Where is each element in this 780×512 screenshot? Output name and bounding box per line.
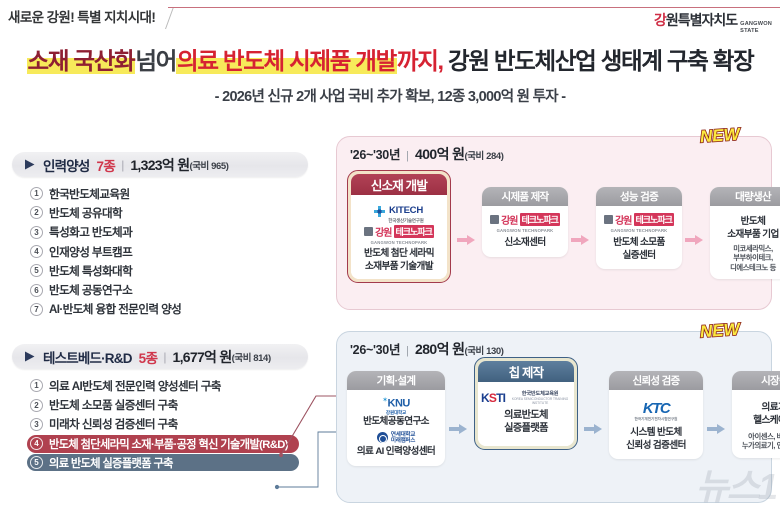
panel-amount: 280억 원	[415, 339, 464, 359]
logo-english-line1: GANGWON	[740, 21, 772, 28]
arrow-right-icon	[459, 424, 467, 434]
list-item-number: 2	[30, 206, 43, 219]
list-item: 3특성화고 반도체과	[30, 223, 330, 242]
arrow-stem	[571, 238, 581, 242]
flow-card-line: 시스템 반도체	[612, 427, 700, 440]
new-badge-materials: NEW	[699, 125, 740, 148]
gtp-mark-icon	[490, 215, 499, 224]
yonsei-mark-icon	[377, 432, 388, 443]
flow-card-title: 신뢰성 검증	[609, 371, 703, 390]
list-item-number: 1	[30, 187, 43, 200]
flow-card-body: 의료기기, 헬스케어 기업 아이센스, 바디텍메드, 누가의료기, 인성메디칼 …	[732, 390, 780, 458]
title-part-2: 넘어	[135, 48, 176, 74]
flow-card-title: 성능 검증	[596, 187, 682, 206]
list-item: 1의료 AI반도체 전문인력 양성센터 구축	[30, 376, 330, 395]
hero-card-chip-fabrication: 칩 제작 KSTI 한국반도체교육원 KOREA SEMICONDUCTOR T…	[474, 357, 578, 450]
hero-desc-line2: 소재부품 기술개발	[354, 261, 444, 274]
flow-card-market-supply: 시장공급 의료기기, 헬스케어 기업 아이센스, 바디텍메드, 누가의료기, 인…	[732, 371, 780, 458]
logo-korean-first-char: 강	[654, 12, 666, 28]
panel-divider: |	[406, 150, 409, 162]
infographic-page: 새로운 강원! 특별 지치시대! 강원특별자치도 GANGWON STATE 소…	[0, 0, 780, 512]
section-header-workforce: 인력양성 7종 | 1,323억 원 (국비 965)	[12, 152, 308, 177]
ksti-logo-accent: S	[489, 391, 496, 405]
logo-english-line2: STATE	[740, 28, 772, 35]
ksti-logo: KSTI 한국반도체교육원 KOREA SEMICONDUCTOR TRAINI…	[481, 391, 571, 405]
flow-card-body: ✶KNU 강원대학교 반도체공동연구소 연세대학교 미래캠퍼스 의료 AI 인력…	[347, 390, 445, 466]
list-item-number: 5	[30, 264, 43, 277]
logo-english-text: GANGWON STATE	[740, 21, 772, 34]
list-item-number: 7	[30, 303, 43, 316]
knu-logo: ✶KNU 강원대학교	[350, 396, 442, 415]
arrow-right-icon	[695, 235, 703, 245]
hero-card-inner: 칩 제작 KSTI 한국반도체교육원 KOREA SEMICONDUCTOR T…	[478, 361, 574, 446]
gtp-logo-korean: 강원	[501, 212, 517, 227]
flow-card-body: 반도체 소재부품 기업 미코세라믹스, 부부하이테크, 디에스테크노 등	[710, 206, 780, 279]
title-block: 소재 국산화넘어의료 반도체 시제품 개발까지, 강원 반도체산업 생태계 구축…	[0, 44, 780, 106]
gangwon-technopark-logo: 강원 테크노파크	[599, 212, 679, 227]
section-header-testbed: 테스트베드·R&D 5종 | 1,677억 원 (국비 814)	[12, 344, 308, 369]
list-item: 5반도체 특성화대학	[30, 261, 330, 280]
yonsei-logo: 연세대학교 미래캠퍼스	[350, 432, 442, 445]
flow-card-line: 소재부품 기업	[713, 229, 780, 242]
flow-card-prototype: 시제품 제작 강원 테크노파크 GANGWON TECHNOPARK 신소재센터	[482, 187, 568, 257]
gangwon-technopark-logo: 강원 테크노파크	[354, 224, 444, 239]
panel-materials-development: '26~'30년 | 400억 원 (국비 284) 신소재 개발 KITECH…	[336, 136, 772, 310]
list-item-label: 반도체 공유대학	[49, 205, 122, 221]
section-amount: 1,323억 원	[130, 155, 189, 175]
arrow-right-icon	[717, 424, 725, 434]
arrow-stem	[457, 238, 467, 242]
list-item-label: 인재양성 부트캠프	[49, 244, 132, 260]
hero-desc-line2: 실증플랫폼	[481, 423, 571, 436]
flow-card-title: 시제품 제작	[482, 187, 568, 206]
arrow-stem	[449, 427, 459, 431]
list-item-number: 1	[30, 379, 43, 392]
list-item-number: 4	[30, 245, 43, 258]
knu-logo-name: ✶KNU	[350, 396, 442, 410]
list-item: 1한국반도체교육원	[30, 184, 330, 203]
gtp-logo-box: 테크노파크	[394, 225, 434, 238]
list-item-highlighted-rnd[interactable]: 4반도체 첨단세라믹 소재·부품·공정 혁신 기술개발(R&D)	[27, 435, 299, 453]
flow-card-body: KTC 한국기계전기전자시험연구원 시스템 반도체 신뢰성 검증센터	[609, 390, 703, 459]
panel-national-funding: (국비 284)	[464, 148, 503, 162]
gtp-logo-korean: 강원	[615, 212, 631, 227]
yonsei-logo-line2: 미래캠퍼스	[391, 438, 415, 444]
gtp-logo-box: 테크노파크	[520, 213, 560, 226]
panel-header-materials: '26~'30년 | 400억 원 (국비 284)	[350, 144, 504, 164]
list-item-label: 한국반도체교육원	[49, 186, 130, 202]
hero-card-body: KSTI 한국반도체교육원 KOREA SEMICONDUCTOR TRAINI…	[478, 382, 574, 446]
arrow-right-icon	[467, 235, 475, 245]
kitech-mark-icon	[374, 206, 385, 217]
flow-card-line: 신소재센터	[485, 237, 565, 250]
flow-card-body: 강원 테크노파크 GANGWON TECHNOPARK 신소재센터	[482, 206, 568, 257]
arrow-stem	[584, 427, 594, 431]
play-triangle-icon	[23, 350, 36, 363]
hero-card-title: 신소재 개발	[351, 174, 447, 195]
header-slogan: 새로운 강원! 특별 지치시대!	[8, 6, 155, 26]
gtp-mark-icon	[604, 215, 613, 224]
section-count: 7종	[96, 155, 115, 175]
list-item-label: 의료 AI반도체 전문인력 양성센터 구축	[49, 378, 221, 394]
flow-card-title: 대량생산	[710, 187, 780, 206]
section-title: 테스트베드·R&D	[43, 347, 132, 367]
list-item-number: 3	[30, 226, 43, 239]
hero-desc-line1: 반도체 첨단 세라믹	[354, 248, 444, 261]
kitech-logo: KITECH 한국생산기술연구원	[354, 200, 444, 223]
panel-national-funding: (국비 130)	[464, 343, 503, 357]
list-item-highlighted-platform[interactable]: 5의료 반도체 실증플랫폼 구축	[27, 454, 299, 472]
list-item-label: 의료 반도체 실증플랫폼 구축	[49, 455, 173, 471]
page-subtitle: - 2026년 신규 2개 사업 국비 추가 확보, 12종 3,000억 원 …	[0, 85, 780, 106]
kitech-logo-subtitle: 한국생산기술연구원	[388, 218, 423, 223]
list-item-label: 특성화고 반도체과	[49, 224, 132, 240]
flow-card-title: 기획·설계	[347, 371, 445, 390]
flow-card-companies: 미코세라믹스, 부부하이테크, 디에스테크노 등	[713, 244, 780, 272]
list-item-number: 2	[30, 399, 43, 412]
gtp-logo-box: 테크노파크	[634, 213, 674, 226]
section-list-workforce: 1한국반도체교육원 2반도체 공유대학 3특성화고 반도체과 4인재양성 부트캠…	[30, 184, 330, 319]
ksti-logo-subtitle-en: KOREA SEMICONDUCTOR TRAINING INSTITUTE	[509, 397, 571, 405]
kitech-logo-name: KITECH	[389, 205, 423, 216]
gtp-mark-icon	[364, 227, 373, 236]
list-item-label: 미래차 신뢰성 검증센터 구축	[49, 416, 178, 432]
list-item-label: 반도체 첨단세라믹 소재·부품·공정 혁신 기술개발(R&D)	[49, 436, 288, 452]
page-header: 새로운 강원! 특별 지치시대! 강원특별자치도 GANGWON STATE	[0, 0, 780, 38]
list-item-label: 반도체 특성화대학	[49, 263, 132, 279]
page-title: 소재 국산화넘어의료 반도체 시제품 개발까지, 강원 반도체산업 생태계 구축…	[0, 44, 780, 78]
hero-card-inner: 신소재 개발 KITECH 한국생산기술연구원 강원 테크노파크	[351, 174, 447, 279]
flow-card-line: 헬스케어 기업	[735, 415, 780, 428]
section-count: 5종	[139, 347, 158, 367]
list-item-label: 반도체 공동연구소	[49, 282, 132, 298]
panel-years: '26~'30년	[350, 339, 400, 358]
flow-card-line: 의료기기,	[735, 402, 780, 415]
panel-amount: 400억 원	[415, 144, 464, 164]
list-item: 3미래차 신뢰성 검증센터 구축	[30, 415, 330, 434]
list-item: 7AI·반도체 융합 전문인력 양성	[30, 300, 330, 319]
section-divider: |	[163, 350, 166, 364]
flow-card-line: 신뢰성 검증센터	[612, 440, 700, 453]
list-item: 4인재양성 부트캠프	[30, 242, 330, 261]
gtp-logo-english: GANGWON TECHNOPARK	[599, 228, 679, 233]
knu-institute-label: 반도체공동연구소	[350, 416, 442, 429]
flow-card-line: 반도체	[713, 216, 780, 229]
arrow-stem	[707, 427, 717, 431]
section-list-testbed: 1의료 AI반도체 전문인력 양성센터 구축 2반도체 소모품 실증센터 구축 …	[30, 376, 330, 471]
ktc-logo-subtitle: 한국기계전기전자시험연구원	[612, 417, 700, 422]
list-item: 2반도체 공유대학	[30, 203, 330, 222]
logo-korean-rest: 원특별자치도	[666, 12, 737, 28]
list-item-number: 6	[30, 284, 43, 297]
ktc-logo: KTC 한국기계전기전자시험연구원	[612, 400, 700, 422]
section-national-funding: (국비 965)	[189, 158, 228, 172]
gangwon-technopark-logo: 강원 테크노파크	[485, 212, 565, 227]
title-part-5: 강원 반도체산업 생태계 구축 확장	[448, 48, 753, 74]
flow-card-mass-production: 대량생산 반도체 소재부품 기업 미코세라믹스, 부부하이테크, 디에스테크노 …	[710, 187, 780, 279]
title-part-1: 소재 국산화	[27, 48, 136, 74]
arrow-right-icon	[581, 235, 589, 245]
gtp-logo-english: GANGWON TECHNOPARK	[485, 228, 565, 233]
flow-card-line: 반도체 소모품	[599, 237, 679, 250]
logo-korean-text: 강원특별자치도	[654, 10, 737, 30]
new-badge-medical: NEW	[699, 320, 740, 343]
flow-card-reliability-validation: 신뢰성 검증 KTC 한국기계전기전자시험연구원 시스템 반도체 신뢰성 검증센…	[609, 371, 703, 459]
hero-card-body: KITECH 한국생산기술연구원 강원 테크노파크 GANGWON TECHNO…	[351, 195, 447, 279]
panel-divider: |	[406, 345, 409, 357]
list-item-number: 5	[30, 456, 43, 469]
flow-card-title: 시장공급	[732, 371, 780, 390]
yonsei-logo-text: 연세대학교 미래캠퍼스	[391, 432, 415, 445]
hero-desc-line1: 의료반도체	[481, 410, 571, 423]
section-title: 인력양성	[43, 155, 89, 175]
flow-card-companies: 아이센스, 바디텍메드, 누가의료기, 인성메디칼 등	[735, 432, 780, 451]
list-item-label: AI·반도체 융합 전문인력 양성	[49, 301, 181, 317]
panel-header-medical: '26~'30년 | 280억 원 (국비 130)	[350, 339, 504, 359]
gtp-logo-english: GANGWON TECHNOPARK	[354, 240, 444, 245]
ksti-logo-name: KSTI	[481, 391, 505, 405]
flow-card-body: 강원 테크노파크 GANGWON TECHNOPARK 반도체 소모품 실증센터	[596, 206, 682, 269]
list-item-number: 3	[30, 418, 43, 431]
gangwon-state-logo: 강원특별자치도 GANGWON STATE	[654, 10, 772, 34]
left-column: 인력양성 7종 | 1,323억 원 (국비 965) 1한국반도체교육원 2반…	[0, 152, 330, 473]
flow-card-performance-validation: 성능 검증 강원 테크노파크 GANGWON TECHNOPARK 반도체 소모…	[596, 187, 682, 269]
knu-logo-subtitle: 강원대학교	[350, 410, 442, 415]
hero-card-title: 칩 제작	[478, 361, 574, 382]
section-divider: |	[121, 158, 124, 172]
flow-card-line: 실증센터	[599, 250, 679, 263]
header-rule	[168, 7, 780, 8]
yonsei-center-label: 의료 AI 인력양성센터	[350, 446, 442, 459]
section-amount: 1,677억 원	[173, 347, 232, 367]
play-triangle-icon	[23, 158, 36, 171]
arrow-stem	[685, 238, 695, 242]
flow-card-planning-design: 기획·설계 ✶KNU 강원대학교 반도체공동연구소 연세대학교 미래캠퍼스 의료…	[347, 371, 445, 466]
hero-card-new-materials: 신소재 개발 KITECH 한국생산기술연구원 강원 테크노파크	[347, 170, 451, 283]
panel-medical-semiconductor: '26~'30년 | 280억 원 (국비 130) 기획·설계 ✶KNU 강원…	[336, 331, 772, 503]
ktc-logo-name: KTC	[612, 400, 700, 417]
list-item-number: 4	[30, 437, 43, 450]
list-item: 6반도체 공동연구소	[30, 280, 330, 299]
list-item: 2반도체 소모품 실증센터 구축	[30, 395, 330, 414]
knu-logo-text: KNU	[388, 398, 410, 410]
list-item-label: 반도체 소모품 실증센터 구축	[49, 397, 178, 413]
title-part-3: 의료 반도체 시제품 개발	[176, 48, 397, 74]
panel-years: '26~'30년	[350, 144, 400, 163]
arrow-right-icon	[594, 424, 602, 434]
gtp-logo-korean: 강원	[375, 224, 391, 239]
section-national-funding: (국비 814)	[232, 350, 271, 364]
title-part-4: 까지,	[397, 48, 443, 74]
